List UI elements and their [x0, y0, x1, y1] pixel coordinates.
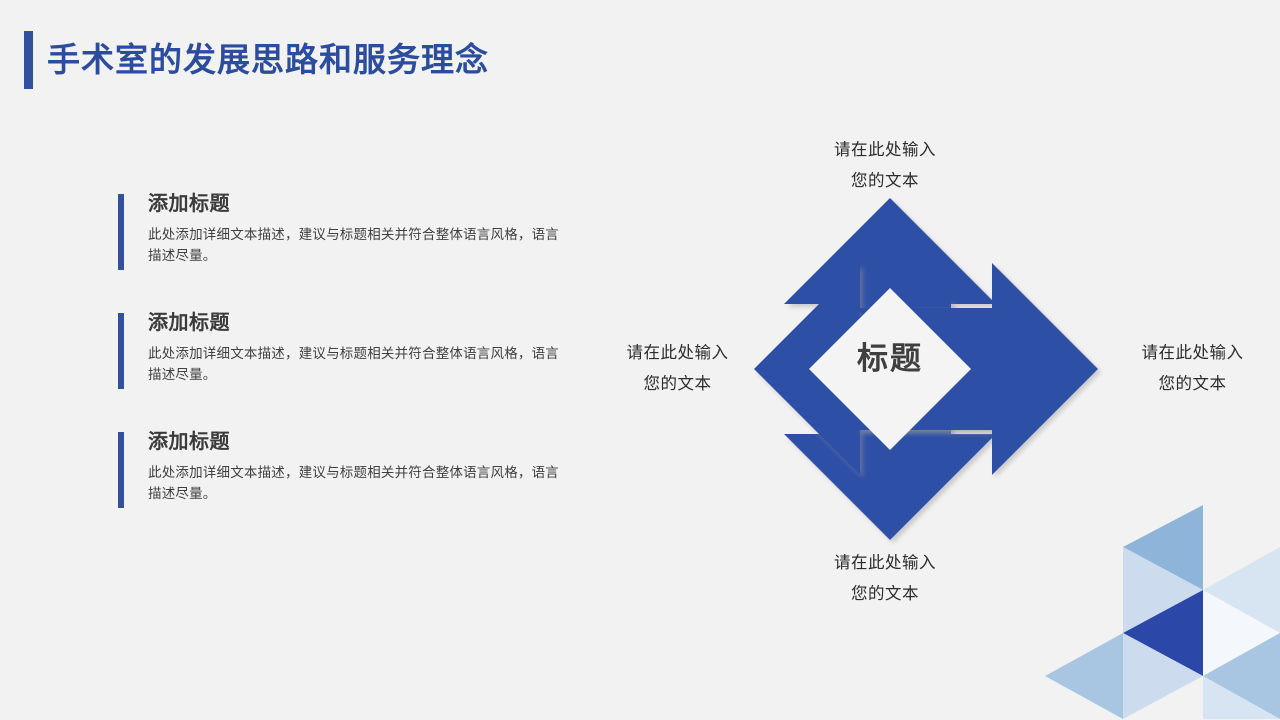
label-bottom-line1: 请在此处输入 [834, 554, 936, 572]
label-right: 请在此处输入 您的文本 [1105, 338, 1280, 401]
label-top-line1: 请在此处输入 [834, 141, 936, 159]
text-block-1[interactable]: 添加标题 此处添加详细文本描述，建议与标题相关并符合整体语言风格，语言描述尽量。 [118, 192, 568, 267]
text-block-description: 此处添加详细文本描述，建议与标题相关并符合整体语言风格，语言描述尽量。 [148, 225, 563, 267]
label-top-line2: 您的文本 [790, 166, 980, 197]
decor-triangle-8 [1203, 633, 1280, 719]
decor-triangle-9 [1203, 676, 1280, 719]
text-block-3[interactable]: 添加标题 此处添加详细文本描述，建议与标题相关并符合整体语言风格，语言描述尽量。 [118, 430, 568, 505]
slide-header: 手术室的发展思路和服务理念 [24, 31, 489, 89]
label-bottom-line2: 您的文本 [790, 579, 980, 610]
slide-root: 手术室的发展思路和服务理念 添加标题 此处添加详细文本描述，建议与标题相关并符合… [0, 0, 1280, 720]
label-bottom: 请在此处输入 您的文本 [790, 548, 980, 611]
decor-triangle-6 [1045, 633, 1123, 719]
label-right-line1: 请在此处输入 [1142, 344, 1244, 362]
text-block-list: 添加标题 此处添加详细文本描述，建议与标题相关并符合整体语言风格，语言描述尽量。… [118, 192, 568, 505]
text-block-accent-bar [118, 432, 124, 508]
label-left: 请在此处输入 您的文本 [600, 338, 755, 401]
center-diamond-label: 标题 [835, 333, 945, 378]
text-block-title: 添加标题 [148, 192, 568, 216]
text-block-accent-bar [118, 313, 124, 389]
text-block-title: 添加标题 [148, 430, 568, 454]
text-block-description: 此处添加详细文本描述，建议与标题相关并符合整体语言风格，语言描述尽量。 [148, 463, 563, 505]
text-block-2[interactable]: 添加标题 此处添加详细文本描述，建议与标题相关并符合整体语言风格，语言描述尽量。 [118, 311, 568, 386]
label-right-line2: 您的文本 [1105, 369, 1280, 400]
label-top: 请在此处输入 您的文本 [790, 135, 980, 198]
header-accent-bar [24, 31, 33, 89]
label-left-line1: 请在此处输入 [627, 344, 729, 362]
page-title: 手术室的发展思路和服务理念 [47, 31, 489, 89]
text-block-description: 此处添加详细文本描述，建议与标题相关并符合整体语言风格，语言描述尽量。 [148, 344, 563, 386]
label-left-line2: 您的文本 [600, 369, 755, 400]
decor-triangle-7 [1123, 633, 1203, 719]
text-block-accent-bar [118, 194, 124, 270]
text-block-title: 添加标题 [148, 311, 568, 335]
four-direction-arrow-diagram: 标题 请在此处输入 您的文本 请在此处输入 您的文本 请在此处输入 您的文本 请… [600, 110, 1280, 630]
